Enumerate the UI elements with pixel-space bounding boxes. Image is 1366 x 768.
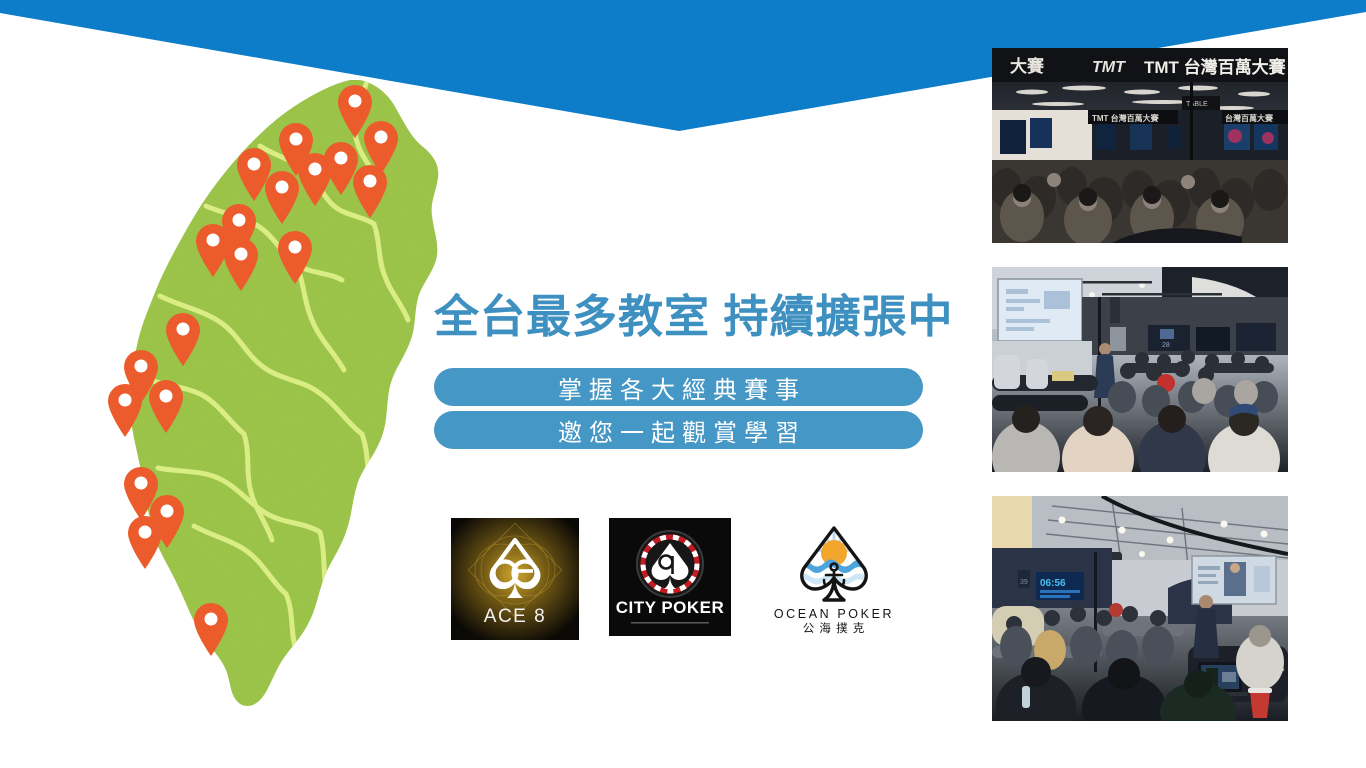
ace8-wordmark: ACE 8: [484, 606, 546, 627]
photo-3-svg: 06:56 39: [992, 496, 1288, 721]
ocean-poker-logo-svg: OCEAN POKER 公 海 撲 克: [764, 518, 904, 636]
timer-display: 06:56: [1040, 578, 1066, 589]
ocean-poker-subtitle: 公 海 撲 克: [803, 621, 866, 635]
photo-classroom-seminar[interactable]: 28: [992, 267, 1288, 472]
photo-lecture-room[interactable]: 06:56 39: [992, 496, 1288, 721]
table-label: TABLE: [1186, 101, 1208, 108]
city-poker-emblem: [637, 531, 703, 597]
ace8-logo-svg: ACE 8: [451, 518, 579, 640]
ocean-poker-logo[interactable]: OCEAN POKER 公 海 撲 克: [764, 518, 904, 636]
taiwan-map: [60, 60, 460, 720]
svg-text:28: 28: [1162, 342, 1170, 349]
ace8-logo[interactable]: ACE 8: [451, 518, 579, 640]
banner-caption: TMT 台灣百萬大賽: [1144, 57, 1287, 77]
svg-text:TMT 台灣百萬大賽: TMT 台灣百萬大賽: [1092, 113, 1160, 123]
partner-logo-row: ACE 8: [434, 518, 924, 640]
photo-1-svg: 大賽 TMT TMT 台灣百萬大賽 TABLE 36: [992, 48, 1288, 243]
water-bottle: [1022, 686, 1030, 708]
city-poker-wordmark: CITY POKER: [616, 598, 725, 617]
city-poker-logo-svg: CITY POKER: [609, 518, 731, 636]
red-cap: [1109, 603, 1123, 617]
photo-tournament-hall[interactable]: 大賽 TMT TMT 台灣百萬大賽 TABLE 36: [992, 48, 1288, 243]
page-title: 全台最多教室 持續擴張中: [434, 293, 924, 340]
ocean-poker-wordmark: OCEAN POKER: [774, 607, 894, 621]
map-pin[interactable]: [128, 516, 162, 569]
photo-2-svg: 28: [992, 267, 1288, 472]
city-poker-logo[interactable]: CITY POKER: [609, 518, 731, 636]
svg-text:台灣百萬大賽: 台灣百萬大賽: [1225, 113, 1274, 123]
divider: [631, 622, 709, 624]
banner-text-left: 大賽: [1010, 56, 1045, 76]
tagline-pill-1: 掌握各大經典賽事: [434, 368, 923, 406]
svg-text:39: 39: [1020, 579, 1028, 586]
crowd: [992, 160, 1288, 243]
tmt-text: TMT: [1092, 59, 1126, 76]
taiwan-map-svg: [60, 60, 460, 720]
tagline-pill-2: 邀您一起觀賞學習: [434, 411, 923, 449]
tagline-pill-group: 掌握各大經典賽事 邀您一起觀賞學習: [434, 368, 923, 449]
poster-canvas: 全台最多教室 持續擴張中 掌握各大經典賽事 邀您一起觀賞學習: [0, 0, 1366, 768]
